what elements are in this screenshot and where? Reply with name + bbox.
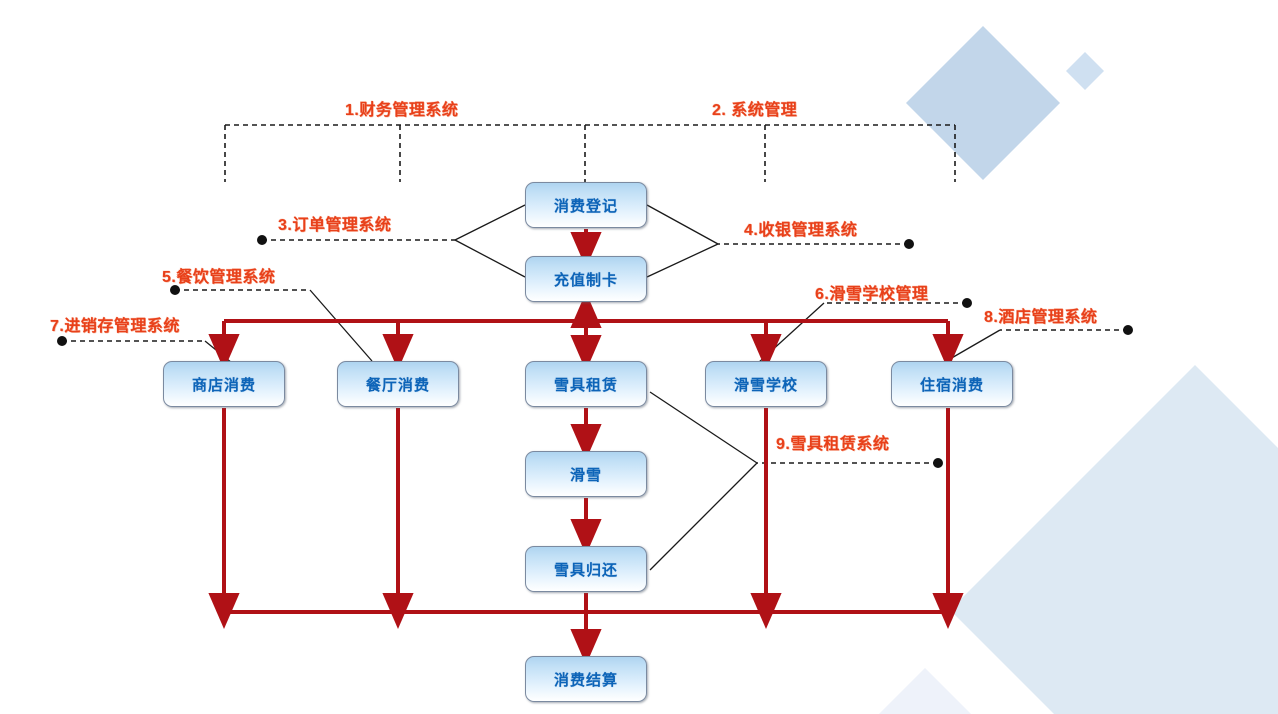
- node-shop-consumption[interactable]: 商店消费: [163, 361, 285, 407]
- decor-diamond-faint-bottom: [840, 668, 1010, 714]
- node-equipment-return[interactable]: 雪具归还: [525, 546, 647, 592]
- node-label: 消费登记: [554, 195, 618, 216]
- node-label: 商店消费: [192, 374, 256, 395]
- node-recharge-card[interactable]: 充值制卡: [525, 256, 647, 302]
- node-label: 滑雪: [570, 464, 602, 485]
- node-ski-school[interactable]: 滑雪学校: [705, 361, 827, 407]
- node-label: 住宿消费: [920, 374, 984, 395]
- node-consumption-registration[interactable]: 消费登记: [525, 182, 647, 228]
- node-label: 雪具租赁: [554, 374, 618, 395]
- diagram-canvas: 消费登记 充值制卡 商店消费 餐厅消费 雪具租赁 滑雪学校 住宿消费 滑雪 雪具…: [0, 0, 1278, 714]
- node-label: 消费结算: [554, 669, 618, 690]
- callout-label-ski-school-management: 6.滑雪学校管理: [815, 280, 928, 304]
- callout-label-hotel-system: 8.酒店管理系统: [984, 303, 1097, 327]
- node-label: 充值制卡: [554, 269, 618, 290]
- node-label: 滑雪学校: [734, 374, 798, 395]
- node-ski-equipment-rental[interactable]: 雪具租赁: [525, 361, 647, 407]
- node-label: 雪具归还: [554, 559, 618, 580]
- decor-diamond-large-bottom: [950, 365, 1278, 714]
- callout-label-catering-system: 5.餐饮管理系统: [162, 263, 275, 287]
- decor-diamond-small-top: [1066, 52, 1104, 90]
- callout-label-cashier-system: 4.收银管理系统: [744, 216, 857, 240]
- callout-label-rental-system: 9.雪具租赁系统: [776, 430, 889, 454]
- callout-label-inventory-system: 7.进销存管理系统: [50, 312, 180, 336]
- node-consumption-settlement[interactable]: 消费结算: [525, 656, 647, 702]
- callout-label-system-management: 2. 系统管理: [712, 96, 797, 120]
- callout-label-order-system: 3.订单管理系统: [278, 211, 391, 235]
- node-skiing[interactable]: 滑雪: [525, 451, 647, 497]
- decorative-shapes: [0, 0, 1278, 714]
- node-label: 餐厅消费: [366, 374, 430, 395]
- node-restaurant-consumption[interactable]: 餐厅消费: [337, 361, 459, 407]
- callout-label-finance-system: 1.财务管理系统: [345, 96, 458, 120]
- decor-diamond-large-top: [906, 26, 1060, 180]
- node-accommodation-consumption[interactable]: 住宿消费: [891, 361, 1013, 407]
